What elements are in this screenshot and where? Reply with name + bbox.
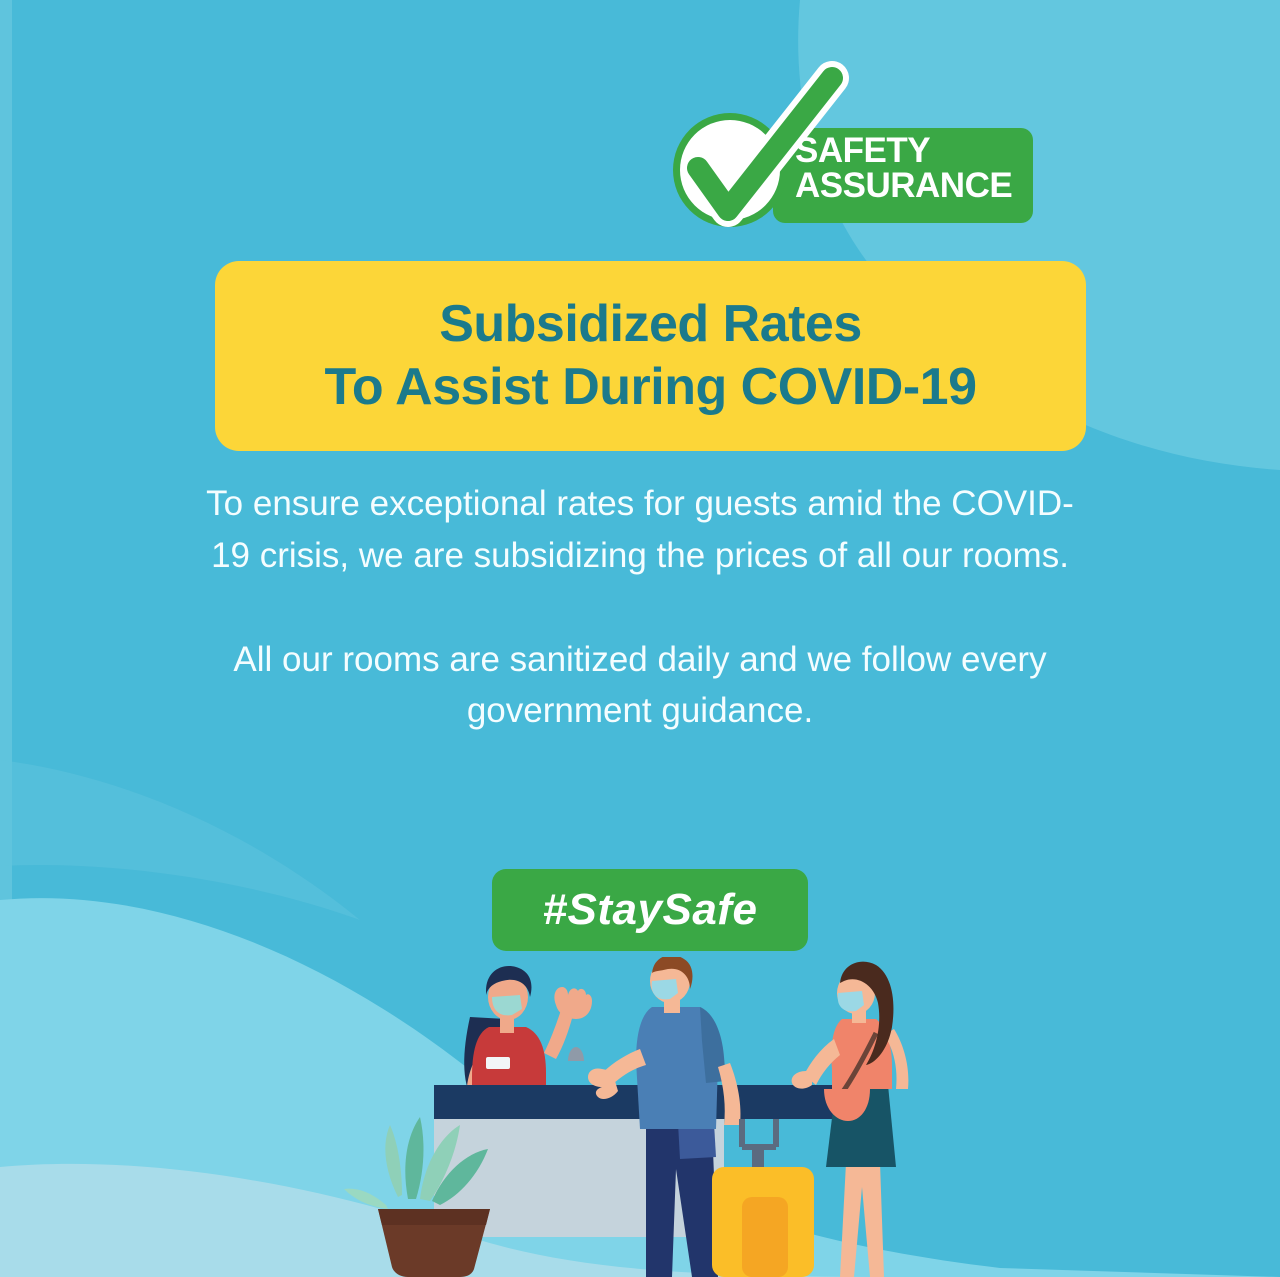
body-copy: To ensure exceptional rates for guests a…	[190, 478, 1090, 737]
title-line-1: Subsidized Rates	[439, 293, 862, 356]
poster-root: SAFETY ASSURANCE Subsidized Rates To Ass…	[0, 0, 1280, 1277]
suitcase-handle	[742, 1119, 776, 1147]
staysafe-badge: #StaySafe	[492, 869, 808, 951]
suitcase-panel	[742, 1197, 788, 1277]
body-paragraph-2: All our rooms are sanitized daily and we…	[190, 634, 1090, 738]
checkmark-icon	[660, 60, 1060, 240]
female-guest-left-hand	[792, 1071, 812, 1089]
receptionist-name-badge	[486, 1057, 510, 1069]
body-paragraph-1: To ensure exceptional rates for guests a…	[190, 478, 1090, 582]
plant-pot-rim	[378, 1209, 490, 1225]
safety-assurance-badge: SAFETY ASSURANCE	[660, 60, 1060, 240]
paragraph-spacer	[190, 582, 1090, 634]
plant-leaf-1	[385, 1125, 402, 1197]
desk-item	[568, 1047, 584, 1061]
title-banner: Subsidized Rates To Assist During COVID-…	[215, 261, 1086, 451]
suitcase-handle-stem	[752, 1145, 764, 1169]
title-line-2: To Assist During COVID-19	[324, 356, 976, 419]
hotel-reception-illustration	[0, 957, 1280, 1277]
female-guest-legs	[840, 1163, 884, 1277]
suitcase	[712, 1119, 814, 1277]
staysafe-label: #StaySafe	[543, 885, 758, 935]
plant-leaf-2	[405, 1117, 423, 1199]
